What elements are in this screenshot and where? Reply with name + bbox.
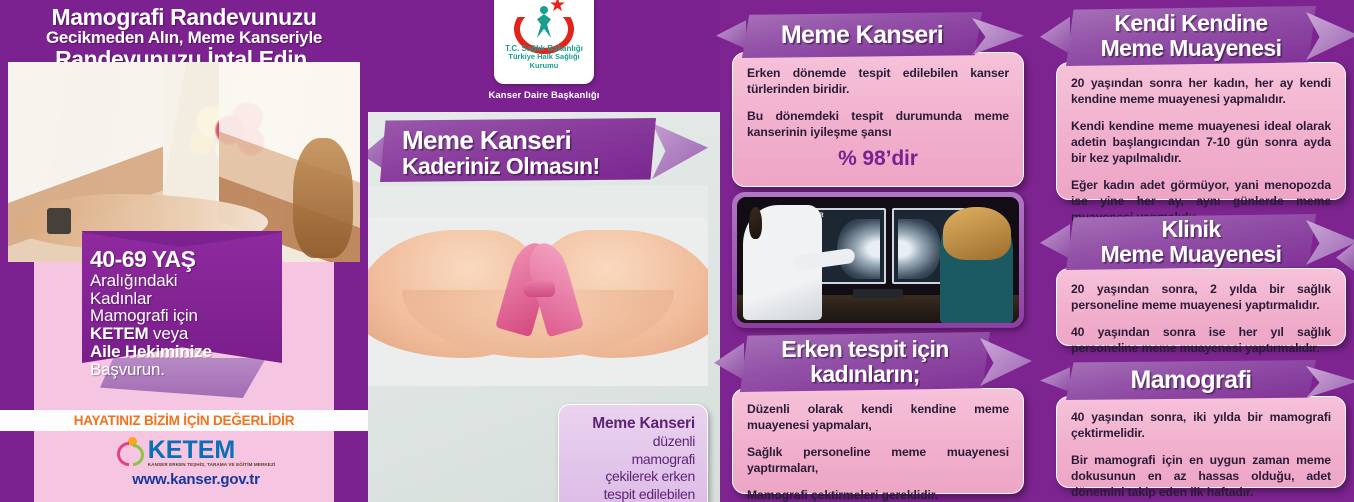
header-title: Mamografi [1066, 360, 1316, 400]
middle-info-line2: mamografi [571, 451, 695, 469]
header-klinik: Klinik Meme Muayenesi [1066, 214, 1316, 270]
doctor-head [749, 207, 762, 239]
erken-tespit-p3: Mamografi çektirmeleri gereklidir. [747, 487, 1009, 502]
header-erken-tespit: Erken tespit için kadınların; [740, 332, 990, 392]
klinik-p1: 20 yaşından sonra, 2 yılda bir sağlık pe… [1071, 281, 1331, 313]
patient-hair [943, 207, 1011, 260]
mamografi-p1: 40 yaşından sonra, iki yılda bir mamogra… [1071, 409, 1331, 441]
left-headline-line1: Mamografi Randevunuzu [0, 6, 368, 29]
pink-ribbon-icon [507, 242, 572, 334]
middle-banner-text: Meme Kanseri Kaderiniz Olmasın! [402, 127, 652, 179]
mamografi-p2: Bir mamografi için en uygun zaman meme d… [1071, 452, 1331, 500]
kendi-kendine-p2: Kendi kendine meme muayenesi ideal olara… [1071, 118, 1331, 166]
ketem-website-link[interactable]: www.kanser.gov.tr [132, 471, 259, 488]
woman-hair [293, 138, 353, 258]
left-purple-strip [8, 262, 34, 502]
keyboard [853, 289, 904, 298]
middle-banner-line2: Kaderiniz Olmasın! [402, 154, 652, 179]
ministry-logo-card: ★ T.C. Sağlık Bakanlığı Türkiye Halk Sağ… [494, 0, 594, 84]
survival-rate-highlight: % 98’dir [747, 151, 1009, 167]
kendi-kendine-p1: 20 yaşından sonra her kadın, her ay kend… [1071, 75, 1331, 107]
card-meme-kanseri: Erken dönemde tespit edilebilen kanser t… [732, 52, 1024, 187]
middle-banner-line1: Meme Kanseri [402, 127, 652, 154]
right-section: Meme Kanseri Erken dönemde tespit edileb… [720, 0, 1354, 502]
left-headline: Mamografi Randevunuzu Gecikmeden Alın, M… [0, 2, 368, 62]
header-title: Kendi Kendine Meme Muayenesi [1066, 6, 1316, 66]
middle-info-line4: tespit edilebilen [571, 486, 695, 502]
header-kendi-kendine: Kendi Kendine Meme Muayenesi [1066, 6, 1316, 66]
ketem-mention: KETEM [90, 324, 149, 343]
card-erken-tespit: Düzenli olarak kendi kendine meme muayen… [732, 388, 1024, 494]
banner-line2: Aralığındaki [90, 272, 280, 290]
right-purple-strip [334, 262, 360, 502]
header-title: Klinik Meme Muayenesi [1066, 214, 1316, 270]
header-meme-kanseri: Meme Kanseri [742, 12, 982, 58]
ministry-line3: Kurumu [530, 61, 559, 70]
banner-line4: Mamografi için [90, 307, 280, 325]
banner-line5-rest: veya [149, 324, 189, 343]
middle-info-line3: çekilerek erken [571, 468, 695, 486]
klinik-title-line2: Meme Muayenesi [1101, 242, 1282, 267]
middle-banner-right-arrow-icon [652, 123, 708, 179]
header-title: Meme Kanseri [742, 12, 982, 58]
kendi-kendine-title-line2: Meme Muayenesi [1101, 36, 1282, 61]
left-banner-text: 40-69 YAŞ Aralığındaki Kadınlar Mamograf… [90, 246, 280, 378]
ketem-subtitle: KANSER ERKEN TEŞHİS, TARAMA VE EĞİTİM ME… [148, 462, 276, 467]
klinik-title-line1: Klinik [1161, 217, 1220, 242]
erken-tespit-p2: Sağlık personeline meme muayenesi yaptır… [747, 444, 1009, 476]
ketem-logo-block: KETEM KANSER ERKEN TEŞHİS, TARAMA VE EĞİ… [96, 437, 296, 497]
header-mamografi: Mamografi [1066, 360, 1316, 400]
department-label: Kanser Daire Başkanlığı [368, 90, 720, 101]
middle-info-line1: düzenli [571, 433, 695, 451]
banner-line7: Başvurun. [90, 361, 280, 379]
klinik-p2: 40 yaşından sonra ise her yıl sağlık per… [1071, 324, 1331, 356]
middle-panel: ★ T.C. Sağlık Bakanlığı Türkiye Halk Sağ… [368, 0, 720, 502]
human-figure-icon [535, 6, 553, 40]
ketem-logo: KETEM KANSER ERKEN TEŞHİS, TARAMA VE EĞİ… [117, 437, 276, 467]
banner-line5: KETEM veya [90, 325, 280, 344]
banner-line3: Kadınlar [90, 290, 280, 308]
banner-line6: Aile Hekiminize [90, 343, 280, 361]
middle-info-box: Meme Kanseri düzenli mamografi çekilerek… [558, 404, 708, 502]
ministry-line2: Türkiye Halk Sağlığı Kurumu [494, 53, 594, 70]
poster-canvas: Mamografi Randevunuzu Gecikmeden Alın, M… [0, 0, 1354, 502]
mammogram-photo-card: R L [732, 192, 1024, 328]
middle-info-heading: Meme Kanseri [571, 414, 695, 433]
slogan-text: HAYATINIZ BİZİM İÇİN DEĞERLİDİR [74, 413, 295, 428]
monitor-left: R [813, 208, 886, 284]
kendi-kendine-title-line1: Kendi Kendine [1114, 11, 1267, 36]
hands-ribbon-photo [368, 186, 708, 386]
mammogram-image-right [898, 219, 941, 279]
slogan-bar: HAYATINIZ BİZİM İÇİN DEĞERLİDİR [0, 410, 368, 431]
card-mamografi: 40 yaşından sonra, iki yılda bir mamogra… [1056, 396, 1346, 488]
mammogram-photo: R L [737, 197, 1019, 323]
age-range-label: 40-69 YAŞ [90, 246, 280, 272]
meme-kanseri-p2: Bu dönemdeki tespit durumunda meme kanse… [747, 108, 1009, 140]
card-kendi-kendine: 20 yaşından sonra her kadın, her ay kend… [1056, 62, 1346, 200]
erken-tespit-title-line1: Erken tespit için [781, 337, 948, 362]
left-panel: Mamografi Randevunuzu Gecikmeden Alın, M… [0, 0, 368, 502]
erken-tespit-p1: Düzenli olarak kendi kendine meme muayen… [747, 401, 1009, 433]
header-title: Erken tespit için kadınların; [740, 332, 990, 392]
meme-kanseri-p1: Erken dönemde tespit edilebilen kanser t… [747, 65, 1009, 97]
card-klinik: 20 yaşından sonra, 2 yılda bir sağlık pe… [1056, 268, 1346, 346]
ketem-figure-icon [117, 437, 145, 467]
left-headline-line2: Gecikmeden Alın, Meme Kanseriyle [0, 29, 368, 47]
erken-tespit-title-line2: kadınların; [810, 362, 920, 387]
wristwatch [47, 208, 72, 234]
ketem-wordmark: KETEM [148, 436, 236, 464]
